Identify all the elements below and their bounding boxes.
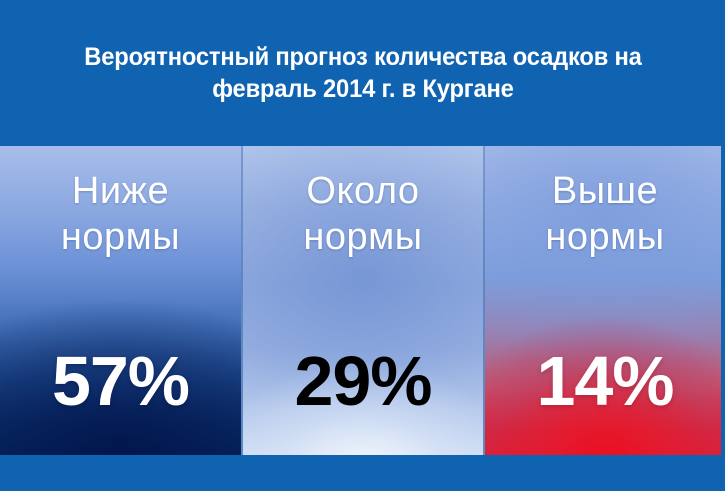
- panel-below-normal: Ниже нормы 57%: [0, 146, 241, 455]
- panel-above-normal-value: 14%: [485, 346, 725, 416]
- panel-below-normal-label: Ниже нормы: [10, 168, 232, 260]
- panel-near-normal: Около нормы 29%: [243, 146, 483, 455]
- panel-above-normal: Выше нормы 14%: [485, 146, 725, 455]
- precipitation-forecast-infographic: Вероятностный прогноз количества осадков…: [0, 0, 725, 491]
- header-band: Вероятностный прогноз количества осадков…: [0, 0, 725, 146]
- panel-above-normal-label: Выше нормы: [495, 168, 716, 260]
- right-edge-strip: [721, 146, 725, 455]
- panel-below-normal-value: 57%: [0, 346, 241, 416]
- page-title: Вероятностный прогноз количества осадков…: [49, 41, 676, 105]
- panel-near-normal-label: Около нормы: [253, 168, 474, 260]
- footer-band: [0, 455, 725, 491]
- forecast-panels: Ниже нормы 57% Около нормы 29% Выше норм…: [0, 146, 725, 455]
- panel-near-normal-value: 29%: [243, 346, 483, 416]
